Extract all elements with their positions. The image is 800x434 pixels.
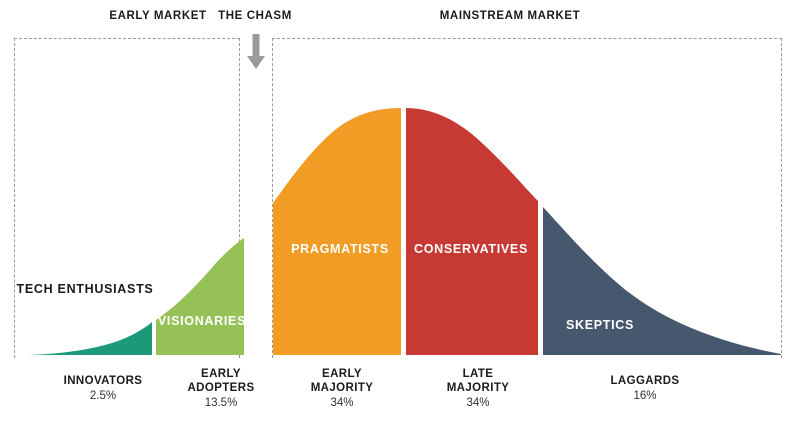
- curve-segment-innovators: [28, 322, 152, 355]
- caption-late-majority-name-line2: MAJORITY: [408, 381, 548, 395]
- conservatives-label: CONSERVATIVES: [406, 242, 536, 256]
- caption-late-majority: LATE MAJORITY 34%: [408, 367, 548, 411]
- caption-early-majority-name-line1: EARLY: [272, 367, 412, 381]
- caption-early-majority: EARLY MAJORITY 34%: [272, 367, 412, 411]
- tech-enthusiasts-label: TECH ENTHUSIASTS: [10, 282, 160, 296]
- curve-segment-late-majority: [406, 108, 538, 355]
- curve-segment-early-majority: [273, 108, 401, 355]
- caption-early-majority-percent: 34%: [272, 396, 412, 411]
- visionaries-label: VISIONARIES: [152, 314, 252, 328]
- caption-laggards: LAGGARDS 16%: [560, 374, 730, 404]
- pragmatists-label: PRAGMATISTS: [275, 242, 405, 256]
- caption-laggards-name: LAGGARDS: [560, 374, 730, 388]
- caption-laggards-percent: 16%: [560, 389, 730, 404]
- curve-segment-laggards: [543, 207, 781, 355]
- caption-late-majority-percent: 34%: [408, 396, 548, 411]
- caption-late-majority-name-line1: LATE: [408, 367, 548, 381]
- curve-segment-early-adopters: [156, 238, 244, 355]
- caption-early-majority-name-line2: MAJORITY: [272, 381, 412, 395]
- adoption-curve-diagram: EARLY MARKET THE CHASM MAINSTREAM MARKET…: [0, 0, 800, 434]
- skeptics-label: SKEPTICS: [545, 318, 655, 332]
